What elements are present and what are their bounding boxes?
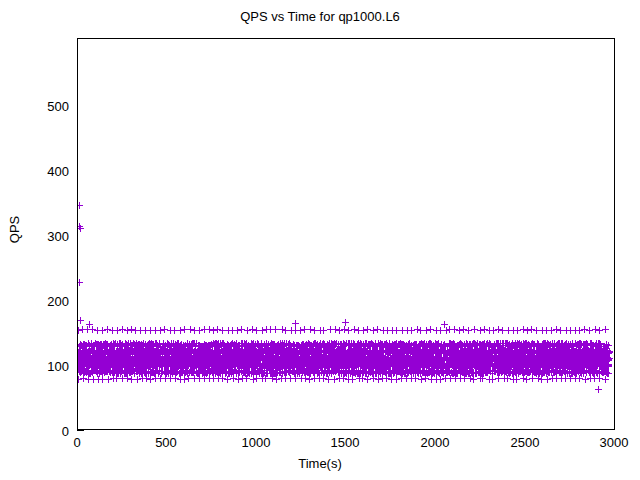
data-point	[188, 378, 189, 379]
data-point	[80, 228, 81, 229]
xtick-label-1500: 1500	[305, 435, 385, 450]
data-point	[608, 358, 609, 359]
data-point	[259, 346, 260, 347]
data-point	[78, 379, 79, 380]
data-point	[217, 329, 218, 330]
data-point	[362, 378, 363, 379]
xtick-label-500: 500	[126, 435, 206, 450]
data-point	[396, 379, 397, 380]
xtick-label-1000: 1000	[216, 435, 296, 450]
data-point	[482, 378, 483, 379]
data-point	[256, 330, 257, 331]
ytick-mark-0	[77, 430, 84, 431]
xtick-label-2000: 2000	[395, 435, 475, 450]
data-point	[112, 330, 113, 331]
data-point	[455, 378, 456, 379]
data-point	[527, 330, 528, 331]
ytick-label-100: 100	[9, 359, 69, 374]
data-point	[430, 329, 431, 330]
data-point	[516, 379, 517, 380]
data-point	[454, 329, 455, 330]
data-point	[608, 365, 609, 366]
xaxis-title: Time(s)	[0, 456, 640, 471]
data-point	[256, 378, 257, 379]
data-point	[304, 329, 305, 330]
data-point	[93, 379, 94, 380]
data-point	[531, 329, 532, 330]
data-point	[222, 330, 223, 331]
data-point	[547, 379, 548, 380]
data-point	[532, 378, 533, 379]
data-point	[373, 330, 374, 331]
data-point	[480, 330, 481, 331]
data-point	[468, 330, 469, 331]
data-point	[89, 324, 90, 325]
data-point	[492, 379, 493, 380]
data-point	[425, 378, 426, 379]
data-point	[265, 378, 266, 379]
data-point	[536, 330, 537, 331]
data-point	[579, 378, 580, 379]
data-point	[498, 378, 499, 379]
data-point	[295, 323, 296, 324]
data-point	[463, 329, 464, 330]
data-point	[391, 379, 392, 380]
data-point	[285, 330, 286, 331]
qps-vs-time-scatter-chart: QPS vs Time for qp1000.L6 my8407relo2nof…	[0, 0, 640, 480]
data-point	[246, 378, 247, 379]
data-point	[565, 378, 566, 379]
data-point	[160, 330, 161, 331]
data-point	[89, 346, 90, 347]
data-point	[79, 205, 80, 206]
data-point	[367, 379, 368, 380]
data-point	[328, 379, 329, 380]
data-point	[431, 379, 432, 380]
data-point	[184, 329, 185, 330]
data-point	[493, 330, 494, 331]
data-point	[174, 330, 175, 331]
data-point	[204, 329, 205, 330]
data-point	[122, 329, 123, 330]
data-point	[348, 330, 349, 331]
data-point	[122, 378, 123, 379]
data-point	[116, 378, 117, 379]
data-point	[464, 378, 465, 379]
data-point	[609, 351, 610, 352]
data-point	[570, 378, 571, 379]
ytick-label-200: 200	[9, 294, 69, 309]
xtick-label-3000: 3000	[574, 435, 640, 450]
data-point	[150, 330, 151, 331]
data-point	[599, 378, 600, 379]
data-point	[605, 379, 606, 380]
data-point	[608, 345, 609, 346]
data-point	[440, 379, 441, 380]
data-point	[204, 378, 205, 379]
data-point	[194, 378, 195, 379]
data-point	[233, 378, 234, 379]
data-point	[264, 346, 265, 347]
data-point	[579, 330, 580, 331]
ytick-label-500: 500	[9, 99, 69, 114]
data-point	[406, 378, 407, 379]
data-point	[80, 320, 81, 321]
data-point	[594, 378, 595, 379]
data-point	[483, 373, 484, 374]
data-point	[599, 330, 600, 331]
data-point	[526, 379, 527, 380]
data-point	[541, 379, 542, 380]
data-point	[295, 378, 296, 379]
data-point	[276, 379, 277, 380]
data-point	[598, 389, 599, 390]
data-point	[502, 330, 503, 331]
data-point	[589, 330, 590, 331]
data-point	[79, 282, 80, 283]
data-point	[285, 378, 286, 379]
data-point	[570, 330, 571, 331]
data-point	[135, 330, 136, 331]
data-point	[396, 330, 397, 331]
data-point	[455, 346, 456, 347]
data-point	[546, 330, 547, 331]
data-point	[199, 330, 200, 331]
xtick-label-0: 0	[37, 435, 117, 450]
data-point	[323, 378, 324, 379]
data-point	[377, 329, 378, 330]
data-point	[88, 379, 89, 380]
data-point	[457, 373, 458, 374]
data-point	[155, 330, 156, 331]
data-point	[314, 330, 315, 331]
data-point	[446, 330, 447, 331]
data-point	[444, 324, 445, 325]
data-point	[450, 378, 451, 379]
plot-area	[77, 38, 615, 430]
data-point	[164, 329, 165, 330]
data-point	[150, 379, 151, 380]
xtick-label-2500: 2500	[485, 435, 565, 450]
data-point	[314, 378, 315, 379]
data-point	[82, 329, 83, 330]
data-point	[507, 378, 508, 379]
data-point	[517, 330, 518, 331]
data-point	[213, 378, 214, 379]
data-point	[343, 378, 344, 379]
data-point	[330, 329, 331, 330]
data-point	[131, 379, 132, 380]
data-point	[373, 378, 374, 379]
data-point	[605, 329, 606, 330]
data-point	[560, 330, 561, 331]
data-point	[248, 345, 249, 346]
data-point	[102, 379, 103, 380]
chart-title: QPS vs Time for qp1000.L6	[0, 9, 640, 24]
data-point	[102, 330, 103, 331]
yaxis-title: QPS	[7, 200, 22, 260]
data-point	[170, 378, 171, 379]
data-point	[363, 330, 364, 331]
data-point	[155, 378, 156, 379]
data-point	[607, 373, 608, 374]
data-point	[323, 330, 324, 331]
data-point	[358, 330, 359, 331]
data-point	[275, 329, 276, 330]
data-point	[227, 379, 228, 380]
ytick-label-400: 400	[9, 164, 69, 179]
data-point	[241, 329, 242, 330]
data-point	[145, 330, 146, 331]
data-point	[411, 330, 412, 331]
data-point	[92, 329, 93, 330]
data-point	[420, 330, 421, 331]
data-point	[415, 378, 416, 379]
data-point	[160, 378, 161, 379]
data-point	[440, 330, 441, 331]
data-point	[473, 379, 474, 380]
data-point	[345, 322, 346, 323]
data-point	[474, 329, 475, 330]
data-point	[352, 379, 353, 380]
data-point	[367, 329, 368, 330]
